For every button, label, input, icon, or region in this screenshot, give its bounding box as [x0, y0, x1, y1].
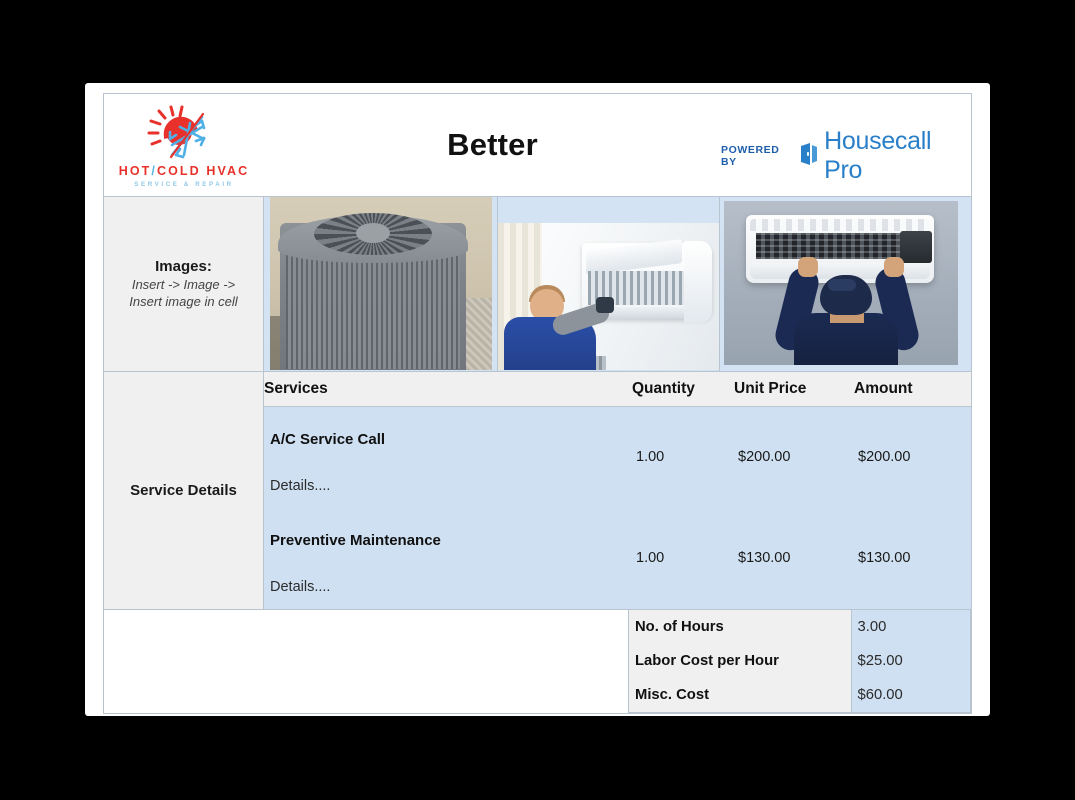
- column-header-amount: Amount: [854, 372, 971, 407]
- page-title: Better: [447, 127, 538, 163]
- technician-servicing-split-ac-photo: [498, 223, 720, 370]
- summary-row: No. of Hours 3.00 Labor Cost per Hour $2…: [104, 610, 971, 713]
- cost-summary-table: No. of Hours 3.00 Labor Cost per Hour $2…: [629, 610, 970, 712]
- service-details-label: Service Details: [104, 372, 264, 609]
- outdoor-ac-condenser-photo: [270, 197, 492, 370]
- summary-label-no-of-hours: No. of Hours: [629, 610, 851, 644]
- summary-row-labor-cost[interactable]: Labor Cost per Hour $25.00: [629, 644, 970, 678]
- service-amount[interactable]: $200.00: [854, 407, 971, 508]
- service-details-text: Details....: [270, 579, 631, 595]
- company-logo-tagline: SERVICE & REPAIR: [134, 181, 233, 188]
- document-header: HOT/COLD HVAC SERVICE & REPAIR Better PO…: [104, 94, 971, 197]
- service-name: A/C Service Call: [270, 431, 631, 448]
- summary-row-hours[interactable]: No. of Hours 3.00: [629, 610, 970, 644]
- summary-spacer: [104, 610, 628, 713]
- service-details-text: Details....: [270, 478, 631, 494]
- powered-by-housecall-pro: POWERED BY Housecall Pro: [721, 94, 971, 196]
- company-logo: HOT/COLD HVAC SERVICE & REPAIR: [104, 94, 264, 196]
- service-unit-price[interactable]: $200.00: [734, 407, 854, 508]
- column-header-services: Services: [264, 372, 632, 407]
- company-logo-text: HOT/COLD HVAC: [119, 164, 250, 178]
- service-cell[interactable]: Preventive Maintenance Details....: [264, 508, 632, 609]
- summary-value-no-of-hours[interactable]: 3.00: [851, 610, 970, 644]
- column-header-quantity: Quantity: [632, 372, 734, 407]
- images-label-cell: Images: Insert -> Image -> Insert image …: [104, 197, 264, 371]
- summary-value-misc-cost[interactable]: $60.00: [851, 678, 970, 712]
- summary-value-labor-cost-per-hour[interactable]: $25.00: [851, 644, 970, 678]
- powered-by-label: POWERED BY: [721, 144, 792, 168]
- document-title-cell: Better: [264, 94, 721, 196]
- images-row: Images: Insert -> Image -> Insert image …: [104, 197, 971, 372]
- housecall-pro-brand-name: Housecall Pro: [824, 127, 963, 185]
- services-table-wrapper: Services Quantity Unit Price Amount A/C …: [264, 372, 971, 609]
- service-quantity[interactable]: 1.00: [632, 508, 734, 609]
- image-cell-1[interactable]: [264, 197, 498, 371]
- service-amount[interactable]: $130.00: [854, 508, 971, 609]
- invoice-document: HOT/COLD HVAC SERVICE & REPAIR Better PO…: [103, 93, 972, 714]
- logo-word-hot: HOT: [119, 164, 152, 178]
- screenshot-root: HOT/COLD HVAC SERVICE & REPAIR Better PO…: [0, 0, 1075, 800]
- technician-rear-split-ac-photo: [724, 201, 958, 365]
- cost-summary-block: No. of Hours 3.00 Labor Cost per Hour $2…: [628, 610, 971, 713]
- images-instruction-line-1: Insert -> Image ->: [132, 277, 235, 293]
- summary-label-misc-cost: Misc. Cost: [629, 678, 851, 712]
- summary-label-labor-cost-per-hour: Labor Cost per Hour: [629, 644, 851, 678]
- image-cell-2[interactable]: [498, 197, 720, 371]
- summary-row-misc-cost[interactable]: Misc. Cost $60.00: [629, 678, 970, 712]
- table-row[interactable]: Preventive Maintenance Details.... 1.00 …: [264, 508, 971, 609]
- service-cell[interactable]: A/C Service Call Details....: [264, 407, 632, 508]
- column-header-unit-price: Unit Price: [734, 372, 854, 407]
- services-table: Services Quantity Unit Price Amount A/C …: [264, 372, 971, 609]
- image-cell-3[interactable]: [720, 197, 971, 371]
- services-table-header-row: Services Quantity Unit Price Amount: [264, 372, 971, 407]
- service-name: Preventive Maintenance: [270, 532, 631, 549]
- service-quantity[interactable]: 1.00: [632, 407, 734, 508]
- images-instruction-line-2: Insert image in cell: [129, 294, 237, 310]
- table-row[interactable]: A/C Service Call Details.... 1.00 $200.0…: [264, 407, 971, 508]
- service-details-row: Service Details Services Quantity Unit P…: [104, 372, 971, 609]
- sun-snowflake-icon: [146, 105, 222, 163]
- logo-word-cold: COLD HVAC: [157, 164, 249, 178]
- images-label-title: Images:: [155, 258, 212, 275]
- service-unit-price[interactable]: $130.00: [734, 508, 854, 609]
- housecall-pro-logo-icon: [799, 142, 819, 171]
